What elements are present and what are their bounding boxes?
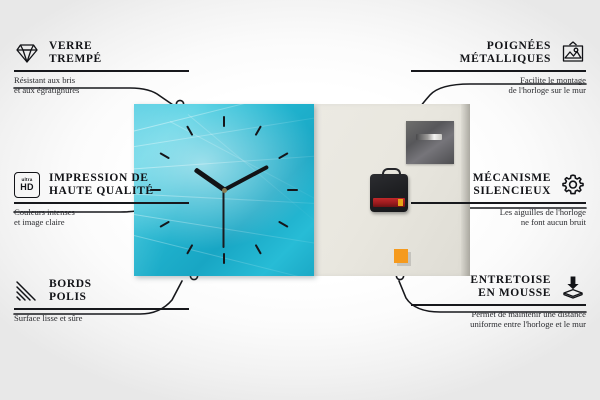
feature-description: Résistant aux briset aux égratignures bbox=[14, 75, 189, 96]
product-infographic: VERRETREMPÉ Résistant aux briset aux égr… bbox=[0, 0, 600, 400]
feature-rule bbox=[411, 304, 586, 306]
feature-title: IMPRESSION DEHAUTE QUALITÉ bbox=[49, 172, 154, 198]
feature-poignees-metalliques: POIGNÉESMÉTALLIQUES Facilite le montaged… bbox=[411, 40, 586, 95]
feature-rule bbox=[14, 70, 189, 72]
feature-title: POIGNÉESMÉTALLIQUES bbox=[460, 40, 551, 66]
feature-verre-trempe: VERRETREMPÉ Résistant aux briset aux égr… bbox=[14, 40, 189, 95]
battery bbox=[373, 198, 405, 207]
feature-title: BORDSPOLIS bbox=[49, 278, 92, 304]
feature-description: Facilite le montagede l'horloge sur le m… bbox=[411, 75, 586, 96]
hanger-slot bbox=[416, 134, 442, 140]
feature-title: ENTRETOISEEN MOUSSE bbox=[470, 274, 551, 300]
feature-mecanisme-silencieux: MÉCANISMESILENCIEUX Les aiguilles de l'h… bbox=[411, 172, 586, 227]
feature-bords-polis: BORDSPOLIS Surface lisse et sûre bbox=[14, 278, 189, 323]
feature-rule bbox=[411, 70, 586, 72]
ultra-hd-bottom-text: HD bbox=[20, 183, 33, 192]
polished-edge-icon bbox=[14, 278, 40, 304]
feature-rule bbox=[411, 202, 586, 204]
clock-hub bbox=[222, 188, 227, 193]
feature-title: VERRETREMPÉ bbox=[49, 40, 102, 66]
feature-description: Couleurs intenseset image claire bbox=[14, 207, 189, 228]
diamond-icon bbox=[14, 40, 40, 66]
picture-hanger-icon bbox=[560, 40, 586, 66]
metal-hanger bbox=[406, 121, 454, 164]
feature-entretoise-en-mousse: ENTRETOISEEN MOUSSE Permet de maintenir … bbox=[411, 274, 586, 329]
gear-icon bbox=[560, 172, 586, 198]
foam-spacer bbox=[394, 249, 408, 263]
foam-spacer-icon bbox=[560, 274, 586, 300]
feature-impression-haute-qualite: ultra HD IMPRESSION DEHAUTE QUALITÉ Coul… bbox=[14, 172, 189, 227]
feature-description: Surface lisse et sûre bbox=[14, 313, 189, 323]
clock-movement bbox=[370, 174, 408, 212]
feature-description: Permet de maintenir une distanceuniforme… bbox=[411, 309, 586, 330]
feature-rule bbox=[14, 308, 189, 310]
feature-description: Les aiguilles de l'horlogene font aucun … bbox=[411, 207, 586, 228]
movement-hook bbox=[382, 168, 401, 179]
feature-title: MÉCANISMESILENCIEUX bbox=[473, 172, 551, 198]
ultra-hd-icon: ultra HD bbox=[14, 172, 40, 198]
feature-rule bbox=[14, 202, 189, 204]
